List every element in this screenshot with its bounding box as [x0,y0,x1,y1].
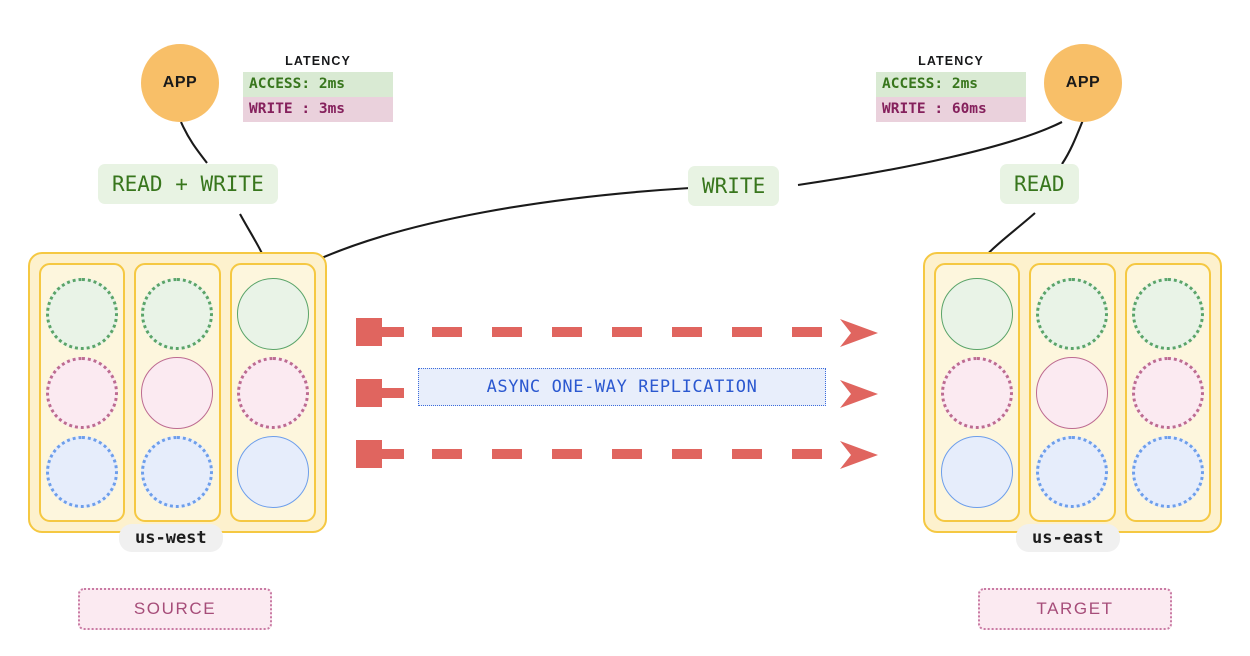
replication-row-1 [356,317,876,347]
replication-dash [732,449,762,459]
app-node-right[interactable]: APP [1044,44,1122,122]
replication-dash [732,327,762,337]
node-us-east-c1-blue[interactable] [941,436,1013,508]
replication-dash [792,327,822,337]
latency-block-left: LATENCY ACCESS: 2ms WRITE : 3ms [243,54,393,122]
node-us-west-c3-green[interactable] [237,278,309,350]
operation-pill-right-wrap: READ [1000,164,1079,204]
operation-pill-read-write[interactable]: READ + WRITE [98,164,278,204]
replication-dash [552,449,582,459]
role-chip-source: SOURCE [78,588,272,630]
write-pill-wrap: WRITE [688,166,779,206]
left-app-to-pill-line [181,122,207,163]
replication-dash [672,327,702,337]
replication-source-block-1 [356,318,382,346]
replication-dash [612,327,642,337]
replication-arrowhead-2 [838,376,880,412]
node-us-west-c3-pink[interactable] [237,357,309,429]
operation-pill-write[interactable]: WRITE [688,166,779,206]
latency-write-right: WRITE : 60ms [876,97,1026,122]
node-us-west-c2-blue[interactable] [141,436,213,508]
diagram-canvas: APP LATENCY ACCESS: 2ms WRITE : 3ms READ… [0,0,1250,656]
node-us-east-c2-blue[interactable] [1036,436,1108,508]
latency-title-right: LATENCY [876,54,1026,68]
role-chip-target: TARGET [978,588,1172,630]
us-east-column-2[interactable] [1029,263,1115,522]
us-west-column-3[interactable] [230,263,316,522]
node-us-east-c2-green[interactable] [1036,278,1108,350]
right-app-to-read-line [1062,120,1083,164]
node-us-west-c2-green[interactable] [141,278,213,350]
replication-dash [432,449,462,459]
replication-dash [492,449,522,459]
region-chip-right-wrap: us-east [1016,524,1120,552]
cluster-us-east[interactable] [923,252,1222,533]
node-us-east-c1-pink[interactable] [941,357,1013,429]
operation-pill-read[interactable]: READ [1000,164,1079,204]
cluster-us-west[interactable] [28,252,327,533]
replication-dash [792,449,822,459]
replication-dash [432,327,462,337]
node-us-west-c1-blue[interactable] [46,436,118,508]
node-us-east-c3-pink[interactable] [1132,357,1204,429]
replication-label: ASYNC ONE-WAY REPLICATION [418,368,826,406]
node-us-west-c3-blue[interactable] [237,436,309,508]
replication-source-block-2 [356,379,382,407]
replication-row-3 [356,439,876,469]
region-chip-left-wrap: us-west [119,524,223,552]
node-us-west-c2-pink[interactable] [141,357,213,429]
node-us-east-c1-green[interactable] [941,278,1013,350]
replication-arrowhead-1 [838,315,880,351]
replication-dash [492,327,522,337]
app-node-right-label: APP [1066,74,1100,92]
node-us-east-c3-blue[interactable] [1132,436,1204,508]
replication-dash [612,449,642,459]
us-east-column-1[interactable] [934,263,1020,522]
write-crossregion-arrow [300,188,690,268]
replication-dash [672,449,702,459]
node-us-east-c2-pink[interactable] [1036,357,1108,429]
replication-dash [552,327,582,337]
replication-source-block-3 [356,440,382,468]
region-chip-us-east: us-east [1016,524,1120,552]
replication-stub-2 [382,388,404,398]
us-west-column-2[interactable] [134,263,220,522]
region-chip-us-west: us-west [119,524,223,552]
latency-access-right: ACCESS: 2ms [876,72,1026,97]
node-us-east-c3-green[interactable] [1132,278,1204,350]
app-node-left[interactable]: APP [141,44,219,122]
latency-write-left: WRITE : 3ms [243,97,393,122]
latency-access-left: ACCESS: 2ms [243,72,393,97]
operation-pill-left-wrap: READ + WRITE [98,164,278,204]
node-us-west-c1-green[interactable] [46,278,118,350]
replication-arrowhead-3 [838,437,880,473]
replication-stub-3 [382,449,404,459]
app-node-left-label: APP [163,74,197,92]
us-west-column-1[interactable] [39,263,125,522]
node-us-west-c1-pink[interactable] [46,357,118,429]
latency-title-left: LATENCY [243,54,393,68]
latency-block-right: LATENCY ACCESS: 2ms WRITE : 60ms [876,54,1026,122]
replication-stub-1 [382,327,404,337]
replication-row-2: ASYNC ONE-WAY REPLICATION [356,378,876,408]
us-east-column-3[interactable] [1125,263,1211,522]
